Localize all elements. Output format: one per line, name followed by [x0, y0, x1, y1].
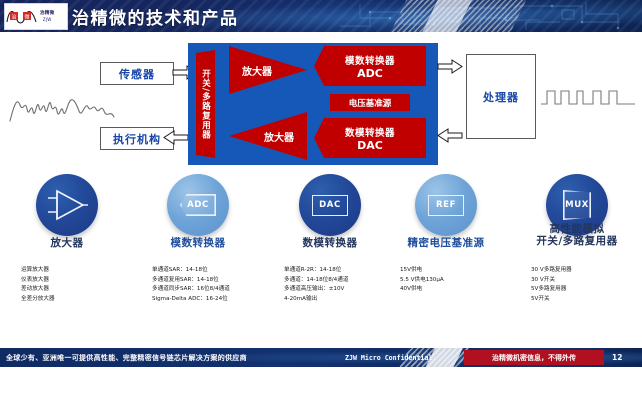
voltage-reference-block: 电压基准源: [330, 94, 410, 111]
product-label-2-title: 模数转换器: [136, 238, 260, 250]
product-label-4-title: 精密电压基准源: [384, 238, 508, 250]
product-specs-5: 30 V多路复用器30 V开关5V多路复用器5V开关: [531, 266, 641, 304]
product-specs-2: 单通道SAR：14-18位多通道复用SAR：14-18位多通道同步SAR：16位…: [152, 266, 262, 304]
slide-canvas: 治 微 治精微 ZJW 治精微的技术和产品 传感器 执行机构 开关/多路复用器 …: [0, 0, 642, 409]
spec-item: 全差分放大器: [21, 295, 131, 305]
footer-confidential-cn: 治精微机密信息，不得外传: [464, 350, 604, 365]
dac-block: 数模转换器 DAC: [314, 118, 426, 158]
dac-block-label-en: DAC: [357, 139, 383, 152]
product-label-5-title: 开关/多路复用器: [515, 236, 639, 248]
product-spec-columns: 运算放大器仪表放大器差动放大器全差分放大器单通道SAR：14-18位多通道复用S…: [0, 266, 642, 330]
slide-header: 治 微 治精微 ZJW 治精微的技术和产品: [0, 0, 642, 32]
arrow-left-icon: [437, 128, 463, 143]
product-label-3-title: 数模转换器: [268, 238, 392, 250]
company-logo: 治 微 治精微 ZJW: [4, 3, 68, 30]
product-label-2: 模数转换器: [136, 238, 260, 250]
adc-block-label-cn: 模数转换器: [345, 53, 395, 67]
adc-chip-icon: ADC: [180, 194, 216, 216]
logo-wordmark: 治精微 ZJW: [40, 11, 54, 22]
product-label-5-sub: 高性能模拟: [515, 224, 639, 236]
sensor-box: 传感器: [100, 62, 174, 85]
product-badge-3: DAC: [299, 174, 361, 236]
dac-chip-icon: DAC: [312, 195, 348, 216]
product-badge-2: ADC: [167, 174, 229, 236]
page-number: 12: [612, 348, 622, 367]
processor-box: 处理器: [466, 54, 536, 139]
spec-item: 仪表放大器: [21, 276, 131, 286]
mux-switch-bar-label: 开关/多路复用器: [200, 69, 212, 140]
product-specs-3: 单通道R-2R：14-18位多通道：14-18位8/4通道多通道高压输出：±10…: [284, 266, 394, 304]
product-label-3: 数模转换器: [268, 238, 392, 250]
spec-item: 多通道复用SAR：14-18位: [152, 276, 262, 286]
analog-waveform-icon: [8, 87, 124, 127]
ref-chip-icon: REF: [428, 195, 464, 216]
logo-wordmark-en: ZJW: [43, 17, 52, 22]
spec-item: 差动放大器: [21, 285, 131, 295]
product-badge-4: REF: [415, 174, 477, 236]
product-label-1-title: 放大器: [5, 238, 129, 250]
svg-text:微: 微: [24, 13, 29, 20]
product-badge-1: [36, 174, 98, 236]
arrow-left-icon: [163, 130, 189, 145]
spec-item: 4-20mA输出: [284, 295, 394, 305]
arrow-right-icon: [437, 59, 463, 74]
product-specs-4: 15V供电5.5 V供电130μA40V供电: [400, 266, 510, 295]
slide-footer: 全球少有、亚洲唯一可提供高性能、完整精密信号链芯片解决方案的供应商 ZJW Mi…: [0, 348, 642, 367]
spec-item: 多通道：14-18位8/4通道: [284, 276, 394, 286]
spec-item: Sigma-Delta ADC：16-24位: [152, 295, 262, 305]
spec-item: 30 V多路复用器: [531, 266, 641, 276]
page-title: 治精微的技术和产品: [72, 3, 239, 29]
digital-square-wave-icon: [540, 84, 636, 110]
spec-item: 5V多路复用器: [531, 285, 641, 295]
spec-item: 多通道同步SAR：16位8/4通道: [152, 285, 262, 295]
footer-tagline: 全球少有、亚洲唯一可提供高性能、完整精密信号链芯片解决方案的供应商: [6, 348, 247, 367]
spec-item: 5V开关: [531, 295, 641, 305]
product-specs-1: 运算放大器仪表放大器差动放大器全差分放大器: [21, 266, 131, 304]
spec-item: 单通道SAR：14-18位: [152, 266, 262, 276]
footer-confidential-en: ZJW Micro Confidential.: [345, 348, 436, 367]
mux-chip-icon: MUX: [563, 190, 591, 220]
product-label-row: 放大器模数转换器数模转换器精密电压基准源高性能模拟开关/多路复用器: [0, 236, 642, 260]
spec-item: 5.5 V供电130μA: [400, 276, 510, 286]
adc-block-label-en: ADC: [357, 67, 383, 80]
signal-chain-diagram: 传感器 执行机构 开关/多路复用器 放大器 放大器 模数转换器 ADC 电压基准…: [0, 32, 642, 172]
spec-item: 30 V开关: [531, 276, 641, 286]
spec-item: 运算放大器: [21, 266, 131, 276]
svg-text:治: 治: [11, 13, 16, 20]
product-label-4: 精密电压基准源: [384, 238, 508, 250]
spec-item: 15V供电: [400, 266, 510, 276]
spec-item: 40V供电: [400, 285, 510, 295]
adc-block: 模数转换器 ADC: [314, 46, 426, 86]
zjw-waveform-logo-icon: 治 微: [5, 5, 39, 28]
spec-item: 单通道R-2R：14-18位: [284, 266, 394, 276]
spec-item: 多通道高压输出：±10V: [284, 285, 394, 295]
mux-switch-bar: 开关/多路复用器: [196, 50, 215, 158]
opamp-triangle-icon: [45, 188, 89, 222]
product-label-1: 放大器: [5, 238, 129, 250]
product-label-5: 高性能模拟开关/多路复用器: [515, 224, 639, 247]
dac-block-label-cn: 数模转换器: [345, 125, 395, 139]
